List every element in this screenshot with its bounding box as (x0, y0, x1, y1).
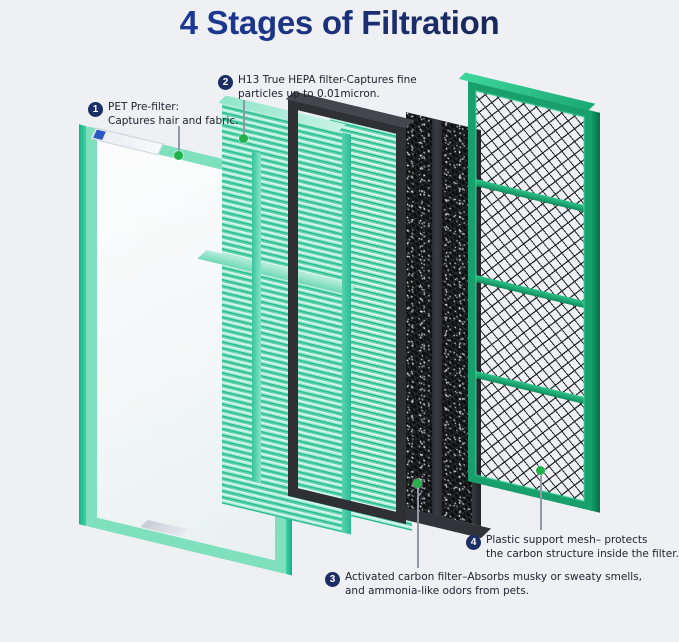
callout-1-badge: 1 (88, 102, 103, 117)
carbon-front-frame (288, 98, 406, 524)
page-title: 4 Stages of Filtration (0, 4, 679, 42)
leader-dot-4 (536, 466, 545, 475)
plastic-support-mesh-layer (468, 81, 592, 511)
mesh-right-edge (592, 111, 600, 513)
leader-dot-3 (413, 479, 422, 488)
carbon-center-band (432, 118, 442, 516)
callout-4: 4 Plastic support mesh– protects the car… (466, 534, 679, 561)
leader-dot-2 (239, 134, 248, 143)
callout-1: 1 PET Pre-filter: Captures hair and fabr… (88, 101, 238, 128)
callout-3-badge: 3 (325, 572, 340, 587)
callout-4-badge: 4 (466, 535, 481, 550)
pet-frame-left-edge (79, 124, 86, 526)
callout-2: 2 H13 True HEPA filter-Captures fine par… (218, 74, 417, 101)
activated-carbon-layer (406, 112, 472, 524)
mesh-outer-rim (468, 81, 592, 511)
callout-3: 3 Activated carbon filter–Absorbs musky … (325, 571, 642, 598)
callout-4-text: Plastic support mesh– protects the carbo… (486, 534, 679, 561)
callout-2-badge: 2 (218, 75, 233, 90)
leader-dot-1 (174, 151, 183, 160)
callout-1-text: PET Pre-filter: Captures hair and fabric… (108, 101, 238, 128)
leader-line-4 (540, 472, 542, 530)
callout-3-text: Activated carbon filter–Absorbs musky or… (345, 571, 642, 598)
leader-line-3 (417, 486, 419, 568)
callout-2-text: H13 True HEPA filter-Captures fine parti… (238, 74, 417, 101)
sticker-logo-icon (93, 130, 106, 140)
infographic-canvas: 4 Stages of Filtration (0, 0, 679, 642)
hepa-support-post (252, 151, 261, 483)
